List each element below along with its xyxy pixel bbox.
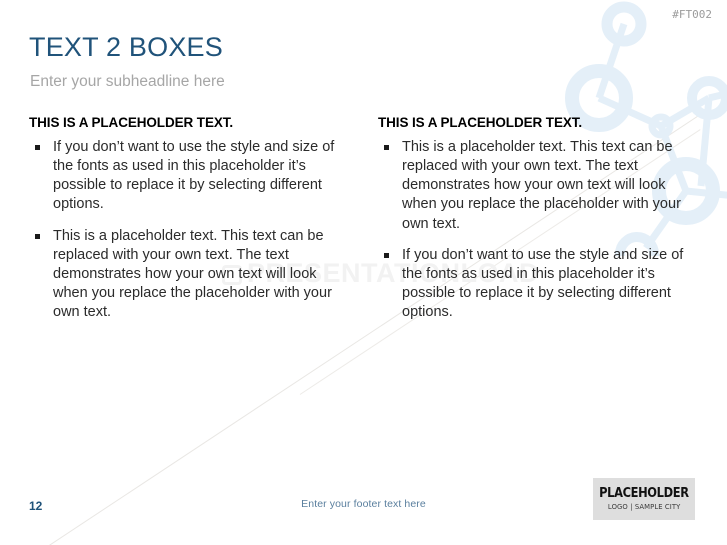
page-subtitle: Enter your subheadline here [30,74,225,90]
content-box-left-heading: THIS IS A PLACEHOLDER TEXT. [29,115,339,130]
list-item: If you don’t want to use the style and s… [29,138,339,215]
square-bullet-icon [35,145,40,150]
list-item: This is a placeholder text. This text ca… [378,138,688,234]
list-item: This is a placeholder text. This text ca… [29,227,339,323]
content-box-right: THIS IS A PLACEHOLDER TEXT. This is a pl… [378,115,688,322]
content-box-left-bullet-list: If you don’t want to use the style and s… [29,138,339,322]
list-item-text: If you don’t want to use the style and s… [402,247,683,320]
content-box-right-heading: THIS IS A PLACEHOLDER TEXT. [378,115,688,130]
slide-canvas: PRESENTATIONLOAD #FT002 TEXT 2 BOXES Ent… [0,0,727,545]
square-bullet-icon [384,145,389,150]
list-item-text: This is a placeholder text. This text ca… [402,139,681,232]
content-box-left: THIS IS A PLACEHOLDER TEXT. If you don’t… [29,115,339,322]
slide-code-label: #FT002 [672,8,712,21]
list-item-text: This is a placeholder text. This text ca… [53,228,332,321]
square-bullet-icon [384,253,389,258]
square-bullet-icon [35,234,40,239]
list-item: If you don’t want to use the style and s… [378,246,688,323]
logo-placeholder-box: PLACEHOLDER LOGO | SAMPLE CITY [593,478,695,520]
logo-primary-text: PLACEHOLDER [599,487,689,501]
logo-secondary-text: LOGO | SAMPLE CITY [608,502,681,511]
page-title: TEXT 2 BOXES [29,34,223,61]
content-box-right-bullet-list: This is a placeholder text. This text ca… [378,138,688,322]
list-item-text: If you don’t want to use the style and s… [53,139,334,212]
